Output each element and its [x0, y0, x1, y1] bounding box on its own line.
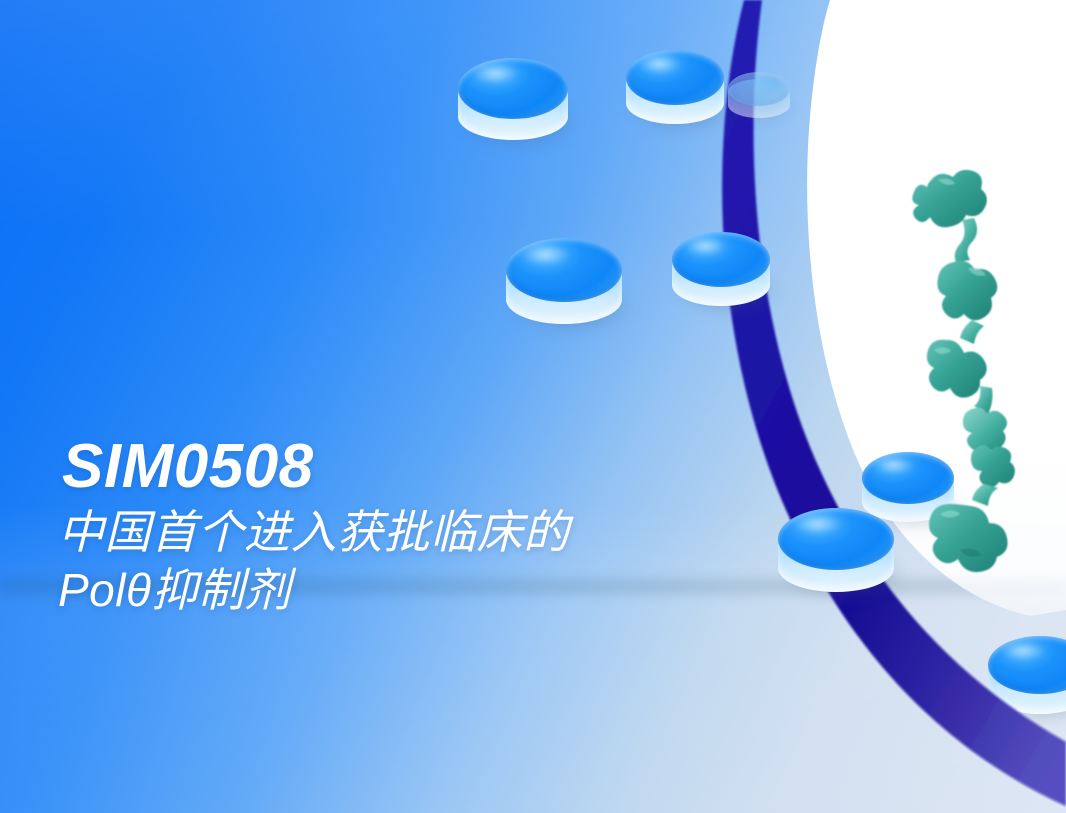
page-title: SIM0508: [62, 436, 570, 498]
tablet-mid-left: [506, 238, 622, 324]
polymerase-theta-protein-ribbon: [876, 158, 1066, 578]
text-block: SIM0508 中国首个进入获批临床的 Polθ抑制剂: [58, 436, 570, 620]
tablet-top-right: [626, 50, 724, 124]
poster-canvas: SIM0508 中国首个进入获批临床的 Polθ抑制剂: [0, 0, 1066, 813]
tablet-highlight: [520, 243, 571, 265]
subtitle: 中国首个进入获批临床的 Polθ抑制剂: [58, 504, 570, 620]
tablet-top-far-right: [728, 72, 790, 118]
tablet-bottom-right: [988, 636, 1066, 714]
tablet-highlight: [471, 63, 519, 84]
subtitle-line-2: Polθ抑制剂: [58, 562, 570, 620]
tablet-highlight: [638, 54, 681, 73]
tablet-highlight: [792, 513, 843, 535]
subtitle-line-1: 中国首个进入获批临床的: [58, 506, 570, 558]
tablet-highlight: [1000, 641, 1046, 661]
tablet-highlight: [684, 236, 727, 255]
tablet-top-face: [728, 72, 790, 106]
tablet-mid-right: [672, 232, 770, 306]
tablet-top-left: [458, 58, 568, 140]
